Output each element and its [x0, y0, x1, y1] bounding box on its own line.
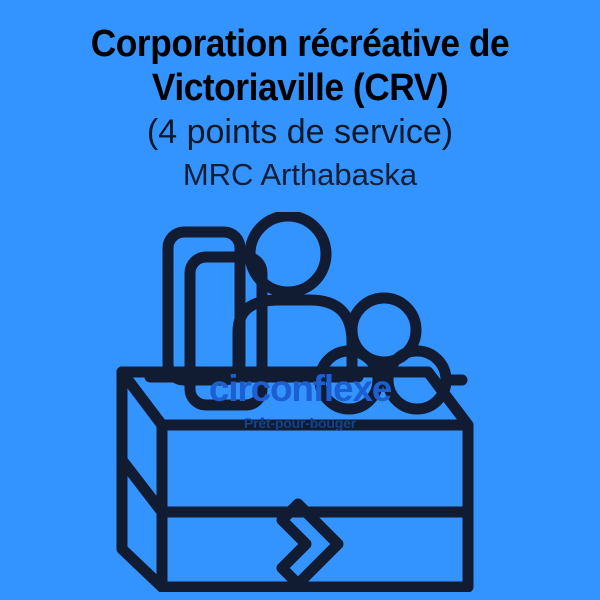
page-title-line-1: Corporation récréative de: [21, 22, 579, 66]
platform-box-lower: [122, 460, 468, 587]
illustration: [90, 212, 514, 592]
head-circle: [250, 216, 326, 292]
subtitle-region: MRC Arthabaska: [0, 154, 600, 196]
subtitle-service-points: (4 points de service): [0, 110, 600, 154]
poster-card: Corporation récréative de Victoriaville …: [0, 0, 600, 600]
page-title-line-2: Victoriaville (CRV): [21, 66, 579, 110]
body-hump: [238, 300, 352, 377]
platform-box-band: [162, 425, 468, 512]
line-art-svg: [90, 212, 514, 592]
heading-block: Corporation récréative de Victoriaville …: [0, 22, 600, 196]
